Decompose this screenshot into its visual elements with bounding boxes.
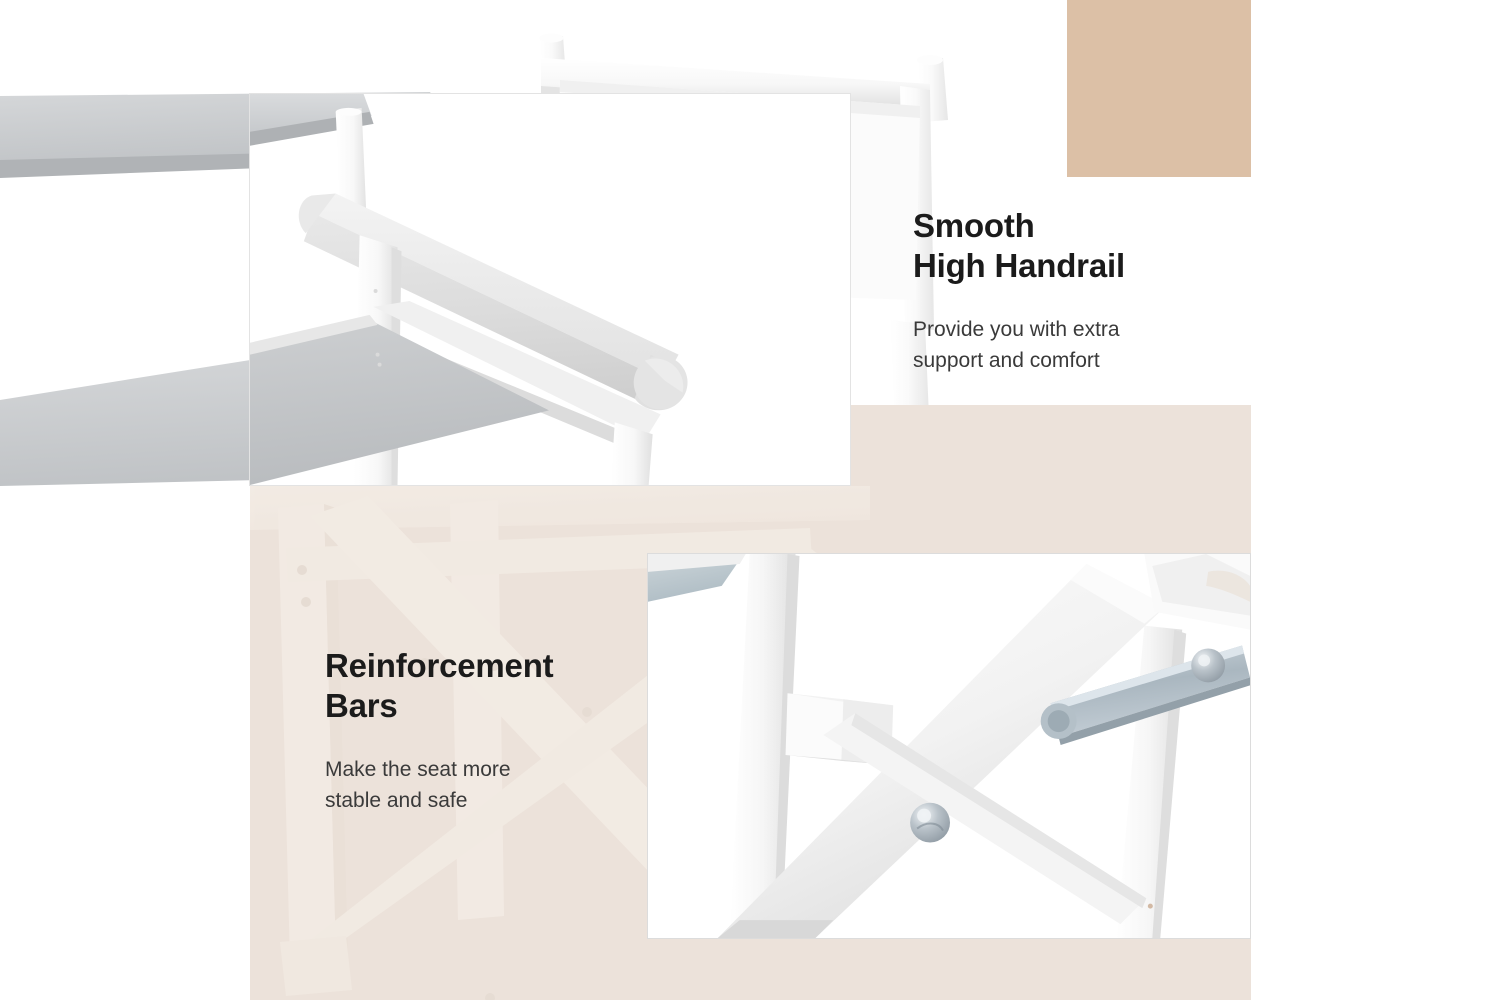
- feature-subtitle-handrail: Provide you with extra support and comfo…: [913, 314, 1125, 376]
- feature-text-reinforcement: Reinforcement Bars Make the seat more st…: [325, 646, 553, 816]
- feature-title-handrail: Smooth High Handrail: [913, 206, 1125, 286]
- infographic-canvas: Smooth High Handrail Provide you with ex…: [0, 0, 1500, 1000]
- inset-photo-reinforcement-bars: [647, 553, 1251, 939]
- inset-photo-handrail: [249, 93, 851, 486]
- feature-title-reinforcement: Reinforcement Bars: [325, 646, 553, 726]
- feature-subtitle-reinforcement: Make the seat more stable and safe: [325, 754, 553, 816]
- tan-color-swatch: [1067, 0, 1251, 177]
- feature-text-handrail: Smooth High Handrail Provide you with ex…: [913, 206, 1125, 376]
